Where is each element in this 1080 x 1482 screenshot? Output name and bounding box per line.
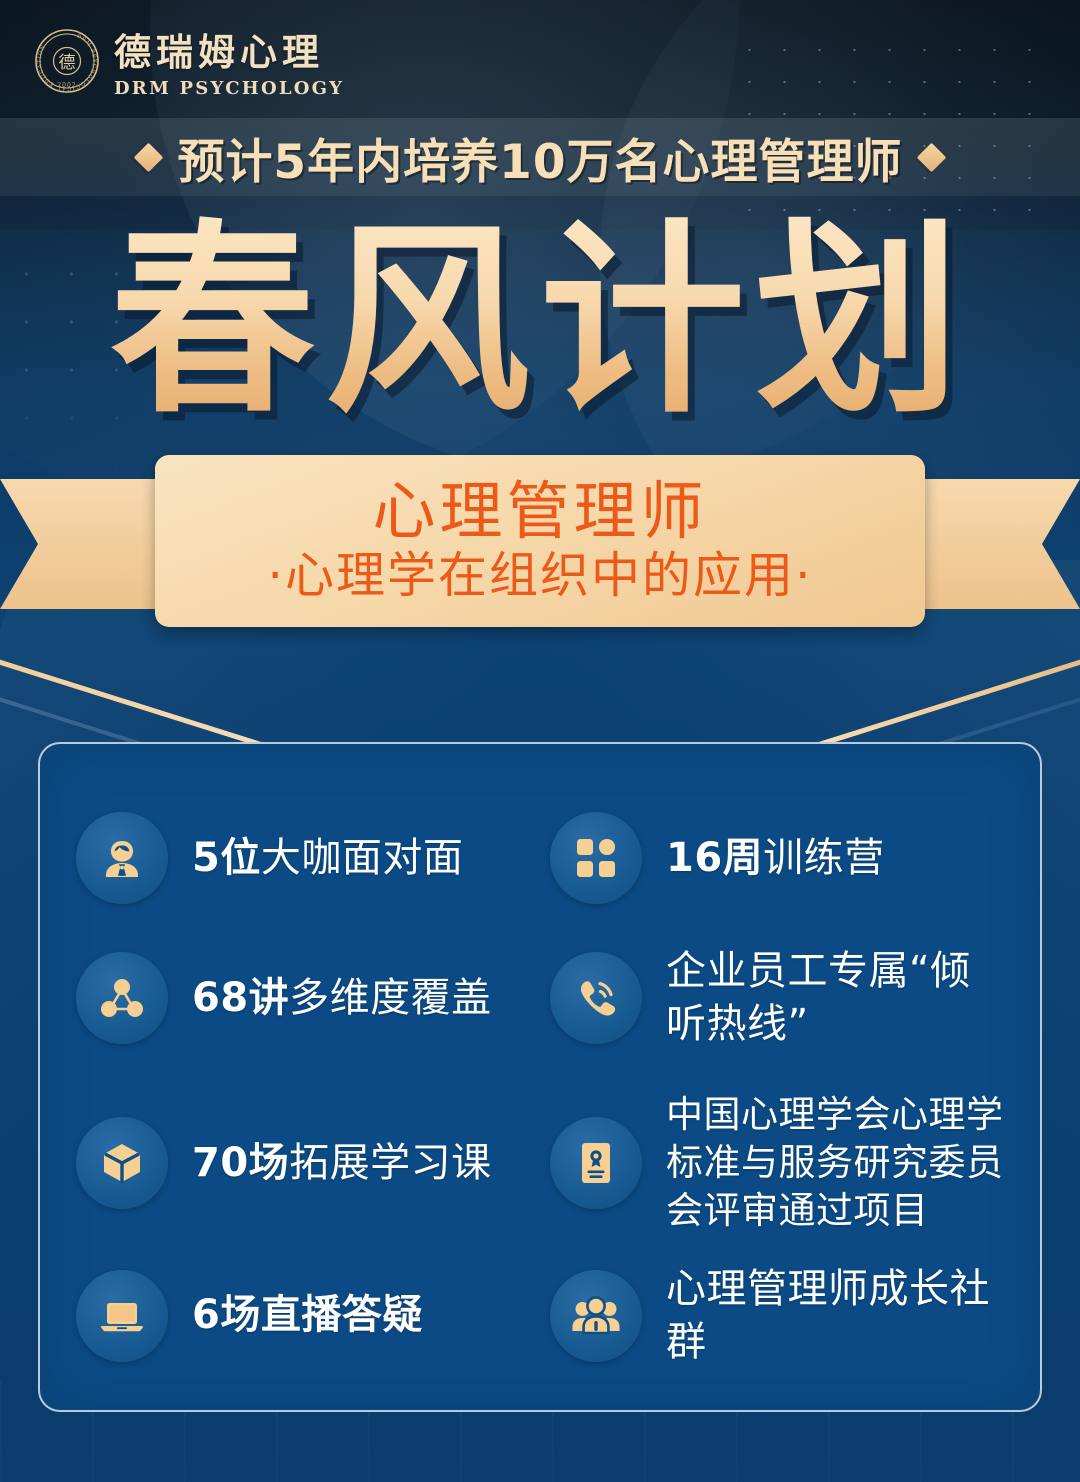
diamond-right-icon xyxy=(916,142,946,172)
brand-name-cn: 德瑞姆心理 xyxy=(114,22,344,76)
brand-logo: 德 2002 DRM PSYCHOLOGICAL EDUCATION 德瑞姆心理… xyxy=(34,22,344,99)
ribbon-title: 心理管理师 xyxy=(373,477,708,546)
grid-icon xyxy=(550,812,642,904)
feature-lead: 5位 xyxy=(192,835,261,881)
feature-label: 中国心理学会心理学标准与服务研究委员会评审通过项目 xyxy=(666,1091,1004,1235)
poster-root: 德 2002 DRM PSYCHOLOGICAL EDUCATION 德瑞姆心理… xyxy=(0,0,1080,1482)
ribbon-subtitle: ·心理学在组织中的应用· xyxy=(267,548,812,604)
page-title: 春风计划 xyxy=(0,215,1080,430)
feature-lead: 6场直播答疑 xyxy=(192,1292,423,1338)
brand-name-en: DRM PSYCHOLOGY xyxy=(114,78,344,99)
ribbon-tail-right xyxy=(905,479,1080,609)
feature-item: 中国心理学会心理学标准与服务研究委员会评审通过项目 xyxy=(550,1068,1004,1258)
subtitle-bar: 预计5年内培养10万名心理管理师 xyxy=(0,118,1080,196)
ribbon-banner: 心理管理师 ·心理学在组织中的应用· xyxy=(0,455,1080,640)
feature-item: 70场拓展学习课 xyxy=(76,1068,526,1258)
box-icon xyxy=(76,1117,168,1209)
feature-item: 企业员工专属“倾听热线” xyxy=(550,928,1004,1068)
feature-item: 心理管理师成长社群 xyxy=(550,1258,1004,1373)
seal-emblem-icon: 德 2002 DRM PSYCHOLOGICAL EDUCATION xyxy=(34,28,100,94)
feature-label: 68讲多维度覆盖 xyxy=(192,972,492,1025)
feature-label: 70场拓展学习课 xyxy=(192,1137,492,1190)
laptop-icon xyxy=(76,1270,168,1362)
person-icon xyxy=(76,812,168,904)
feature-item: 16周训练营 xyxy=(550,788,1004,928)
features-card: 5位大咖面对面 68讲多维度覆盖 xyxy=(38,742,1042,1412)
feature-item: 6场直播答疑 xyxy=(76,1258,526,1373)
feature-lead: 70场 xyxy=(192,1140,289,1186)
ribbon-tail-left xyxy=(0,479,175,609)
feature-rest: 大咖面对面 xyxy=(261,835,464,881)
feature-label: 6场直播答疑 xyxy=(192,1289,423,1342)
feature-rest: 心理管理师成长社群 xyxy=(666,1266,990,1365)
feature-rest: 训练营 xyxy=(763,835,885,881)
svg-text:德: 德 xyxy=(59,53,76,73)
feature-lead: 16周 xyxy=(666,835,763,881)
network-icon xyxy=(76,952,168,1044)
feature-item: 5位大咖面对面 xyxy=(76,788,526,928)
feature-label: 企业员工专属“倾听热线” xyxy=(666,945,1004,1051)
feature-label: 心理管理师成长社群 xyxy=(666,1263,1004,1369)
group-icon xyxy=(550,1270,642,1362)
features-column-right: 16周训练营 企业员工专属“倾听热线” xyxy=(540,788,1004,1380)
features-column-left: 5位大咖面对面 68讲多维度覆盖 xyxy=(76,788,540,1380)
feature-label: 16周训练营 xyxy=(666,832,885,885)
feature-rest: 企业员工专属“倾听热线” xyxy=(666,948,971,1047)
phone-call-icon xyxy=(550,952,642,1044)
subtitle-text: 预计5年内培养10万名心理管理师 xyxy=(177,123,902,192)
certificate-icon xyxy=(550,1117,642,1209)
feature-item: 68讲多维度覆盖 xyxy=(76,928,526,1068)
ribbon-body: 心理管理师 ·心理学在组织中的应用· xyxy=(155,455,925,627)
feature-rest: 拓展学习课 xyxy=(289,1140,492,1186)
feature-rest: 中国心理学会心理学标准与服务研究委员会评审通过项目 xyxy=(666,1093,1004,1232)
feature-rest: 多维度覆盖 xyxy=(289,975,492,1021)
feature-lead: 68讲 xyxy=(192,975,289,1021)
feature-label: 5位大咖面对面 xyxy=(192,832,463,885)
diamond-left-icon xyxy=(134,142,164,172)
